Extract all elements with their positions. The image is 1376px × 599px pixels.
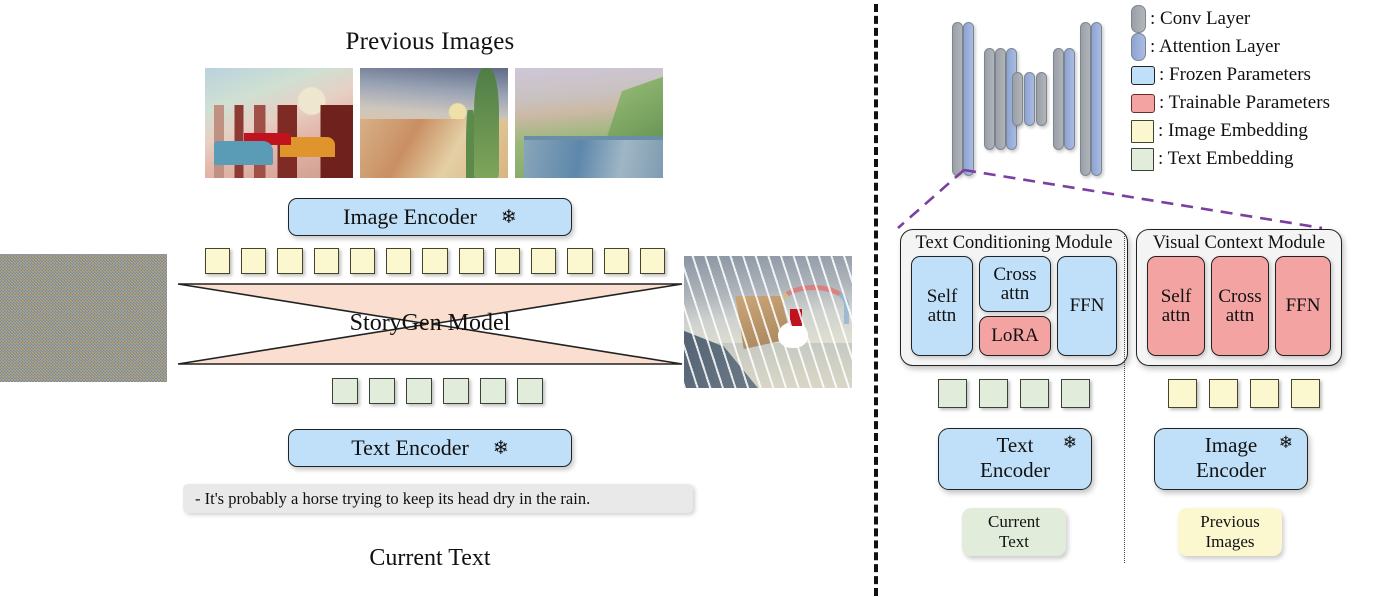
- text-conditioning-module: Text Conditioning Module SelfattnCrossat…: [900, 229, 1128, 366]
- modules-row: Text Conditioning Module SelfattnCrossat…: [900, 229, 1342, 366]
- image-embedding-token: [314, 248, 339, 274]
- module-cell-self-attn: Selfattn: [1147, 256, 1205, 356]
- module-cell-self-attn: Selfattn: [911, 256, 973, 356]
- conv-layer-bar: [984, 48, 995, 150]
- module-cell-label: Crossattn: [1218, 287, 1261, 326]
- text-embedding-token: [443, 378, 469, 404]
- legend-label: : Frozen Parameters: [1159, 64, 1311, 86]
- image-embedding-token: [640, 248, 665, 274]
- image-embedding-square-icon: [1131, 120, 1154, 143]
- text-embedding-token: [1020, 379, 1049, 408]
- image-embedding-token: [386, 248, 411, 274]
- module-cell-cross-attn: Crossattn: [1211, 256, 1269, 356]
- conv-layer-bar: [952, 22, 963, 176]
- legend-row: : Trainable Parameters: [1131, 90, 1376, 116]
- right-text-embedding-token-row: [938, 379, 1090, 408]
- text-embedding-token: [517, 378, 543, 404]
- previous-image-thumbnail-2: [360, 68, 508, 178]
- right-image-encoder-label-line2: Encoder: [1155, 458, 1307, 483]
- noise-latent-image: [0, 254, 167, 382]
- trainable-square-icon: [1131, 94, 1155, 113]
- image-embedding-token: [567, 248, 592, 274]
- image-embedding-token: [1209, 379, 1238, 408]
- module-cell-lora: LoRA: [979, 316, 1051, 356]
- image-embedding-token: [350, 248, 375, 274]
- snowflake-icon: ❄: [1279, 433, 1293, 453]
- current-text-source-line2: Text: [999, 532, 1029, 552]
- legend-row: : Attention Layer: [1131, 34, 1376, 60]
- module-cell-label: FFN: [1070, 296, 1105, 315]
- text-embedding-token: [979, 379, 1008, 408]
- text-embedding-token: [938, 379, 967, 408]
- text-embedding-token-row: [332, 378, 543, 404]
- legend-row: : Text Embedding: [1131, 146, 1376, 172]
- image-embedding-token: [1291, 379, 1320, 408]
- attention-layer-bar: [1064, 48, 1075, 150]
- module-cell-ffn: FFN: [1057, 256, 1117, 356]
- previous-images-strip: [205, 68, 665, 178]
- module-cell-label: Crossattn: [993, 265, 1036, 304]
- legend-label: : Text Embedding: [1158, 148, 1294, 170]
- module-cell-label: Selfattn: [1161, 287, 1192, 326]
- module-cell-label: LoRA: [991, 326, 1039, 345]
- unet-diagram: [952, 24, 1098, 176]
- legend: : Conv Layer: Attention Layer: Frozen Pa…: [1131, 6, 1376, 174]
- module-cell-label: FFN: [1286, 296, 1321, 315]
- image-embedding-token-row: [205, 248, 665, 274]
- attention-layer-bar: [963, 22, 974, 176]
- module-cell-label: Selfattn: [927, 287, 958, 326]
- image-embedding-token: [241, 248, 266, 274]
- text-embedding-token: [1061, 379, 1090, 408]
- module-cell-cross-attn: Crossattn: [979, 256, 1051, 312]
- right-image-encoder-box: Image Encoder ❄: [1154, 428, 1308, 490]
- legend-label: : Conv Layer: [1150, 8, 1250, 30]
- image-embedding-token: [277, 248, 302, 274]
- module-cell-ffn: FFN: [1275, 256, 1331, 356]
- previous-images-source-box: Previous Images: [1178, 508, 1282, 556]
- legend-label: : Attention Layer: [1150, 36, 1280, 58]
- conv-layer-bar: [1080, 22, 1091, 176]
- image-embedding-token: [422, 248, 447, 274]
- snowflake-icon: ❄: [493, 437, 509, 460]
- attention-pill-icon: [1131, 33, 1146, 61]
- right-panel-inner-divider: [1124, 233, 1125, 563]
- generated-output-image: [684, 256, 852, 388]
- current-text-title: Current Text: [180, 545, 680, 572]
- text-embedding-token: [406, 378, 432, 404]
- image-embedding-token: [459, 248, 484, 274]
- text-conditioning-module-title: Text Conditioning Module: [901, 233, 1127, 254]
- legend-row: : Image Embedding: [1131, 118, 1376, 144]
- image-embedding-token: [604, 248, 629, 274]
- previous-image-thumbnail-1: [205, 68, 353, 178]
- image-encoder-label: Image Encoder: [343, 204, 477, 230]
- previous-images-title: Previous Images: [180, 28, 680, 56]
- image-embedding-token: [495, 248, 520, 274]
- current-text-source-box: Current Text: [962, 508, 1066, 556]
- conv-layer-bar: [1053, 48, 1064, 150]
- image-embedding-token: [1250, 379, 1279, 408]
- frozen-square-icon: [1131, 66, 1155, 85]
- text-encoder-label: Text Encoder: [351, 435, 469, 461]
- right-text-encoder-box: Text Encoder ❄: [938, 428, 1092, 490]
- conv-layer-bar: [995, 48, 1006, 150]
- previous-images-source-line1: Previous: [1200, 512, 1260, 532]
- right-image-embedding-token-row: [1168, 379, 1320, 408]
- previous-images-source-line2: Images: [1205, 532, 1254, 552]
- text-embedding-token: [480, 378, 506, 404]
- text-embedding-token: [332, 378, 358, 404]
- previous-image-thumbnail-3: [515, 68, 663, 178]
- right-text-encoder-label-line2: Encoder: [939, 458, 1091, 483]
- attention-layer-bar: [1024, 72, 1035, 126]
- conv-layer-bar: [1012, 72, 1023, 126]
- snowflake-icon: ❄: [501, 206, 517, 229]
- legend-row: : Frozen Parameters: [1131, 62, 1376, 88]
- panel-divider: [874, 4, 878, 596]
- current-text-source-line1: Current: [988, 512, 1040, 532]
- image-embedding-token: [1168, 379, 1197, 408]
- conv-pill-icon: [1131, 5, 1146, 33]
- caption-text: - It's probably a horse trying to keep i…: [195, 489, 590, 509]
- text-encoder-box: Text Encoder ❄: [288, 429, 572, 467]
- image-embedding-token: [205, 248, 230, 274]
- legend-row: : Conv Layer: [1131, 6, 1376, 32]
- rain-streaks: [684, 256, 852, 388]
- attention-layer-bar: [1091, 22, 1102, 176]
- conv-layer-bar: [1036, 72, 1047, 126]
- legend-label: : Trainable Parameters: [1159, 92, 1330, 114]
- snowflake-icon: ❄: [1063, 433, 1077, 453]
- text-embedding-square-icon: [1131, 148, 1154, 171]
- visual-context-module: Visual Context Module SelfattnCrossattnF…: [1136, 229, 1342, 366]
- current-text-caption: - It's probably a horse trying to keep i…: [183, 484, 693, 513]
- text-embedding-token: [369, 378, 395, 404]
- storygen-model-label: StoryGen Model: [175, 310, 685, 337]
- legend-label: : Image Embedding: [1158, 120, 1308, 142]
- visual-context-module-title: Visual Context Module: [1137, 233, 1341, 254]
- image-encoder-box: Image Encoder ❄: [288, 198, 572, 236]
- image-embedding-token: [531, 248, 556, 274]
